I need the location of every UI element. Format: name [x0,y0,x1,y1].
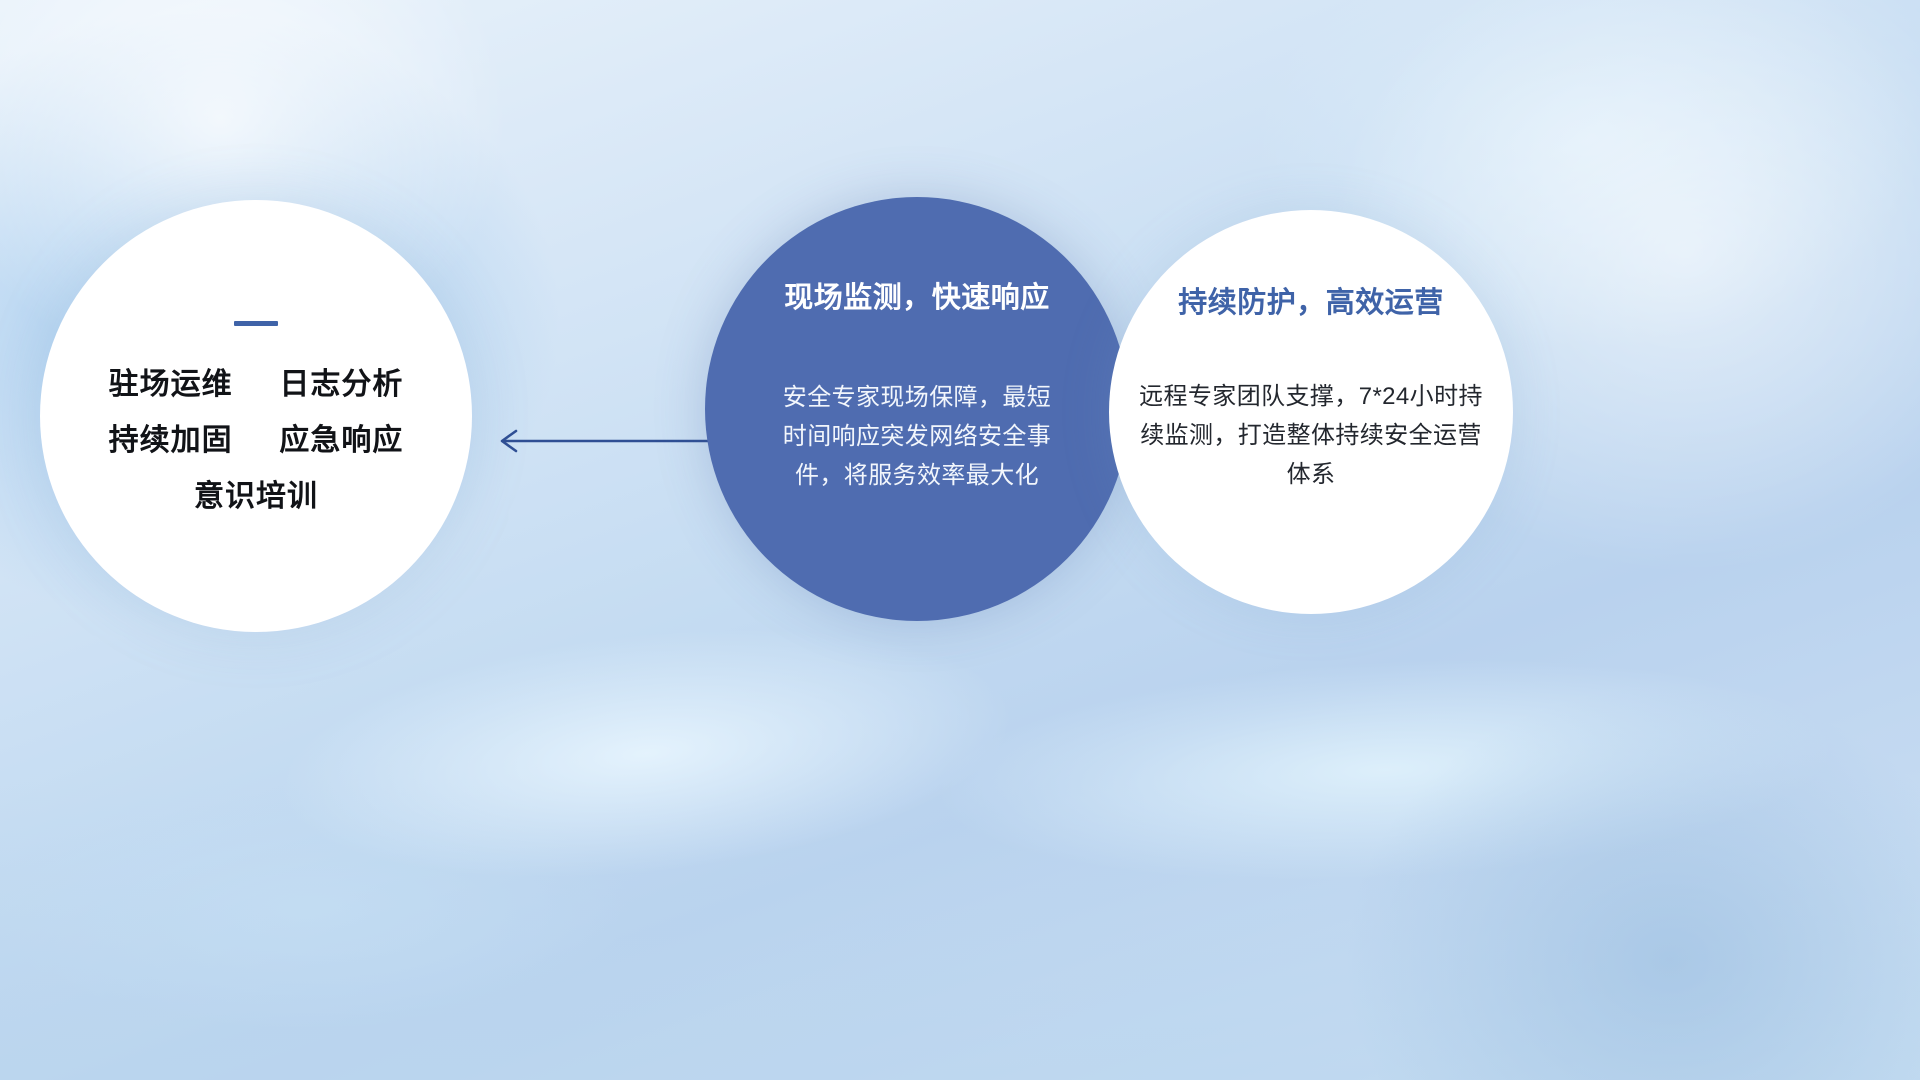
capability-row-1: 驻场运维 日志分析 [109,370,404,400]
capability-label-1b: 日志分析 [279,368,403,401]
service-circle-remote[interactable]: 持续防护，高效运营 远程专家团队支撑，7*24小时持续监测，打造整体持续安全运营… [1109,210,1513,614]
capability-row-3: 意识培训 [194,482,318,512]
capability-label-2b: 应急响应 [279,424,403,457]
capability-label-1a: 驻场运维 [109,368,233,401]
service-circle-remote-title: 持续防护，高效运营 [1178,288,1444,320]
capability-circle-left[interactable]: 驻场运维 日志分析 持续加固 应急响应 意识培训 [40,200,472,632]
capability-label-2a: 持续加固 [109,424,233,457]
service-circle-remote-body: 远程专家团队支撑，7*24小时持续监测，打造整体持续安全运营体系 [1137,378,1485,495]
background-shade-bottom-right [1220,580,1920,1080]
service-circle-onsite[interactable]: 现场监测，快速响应 安全专家现场保障，最短时间响应突发网络安全事件，将服务效率最… [705,197,1129,621]
slide-canvas: 驻场运维 日志分析 持续加固 应急响应 意识培训 现场监测，快速响应 安全专家现… [0,0,1920,1080]
flow-arrow-icon [488,418,718,464]
dash-accent-icon [234,321,278,326]
capability-row-2: 持续加固 应急响应 [109,426,404,456]
capability-list: 驻场运维 日志分析 持续加固 应急响应 意识培训 [109,370,404,512]
service-circle-onsite-body: 安全专家现场保障，最短时间响应突发网络安全事件，将服务效率最大化 [771,379,1063,496]
service-circle-onsite-title: 现场监测，快速响应 [784,283,1050,315]
capability-label-3a: 意识培训 [194,480,318,513]
